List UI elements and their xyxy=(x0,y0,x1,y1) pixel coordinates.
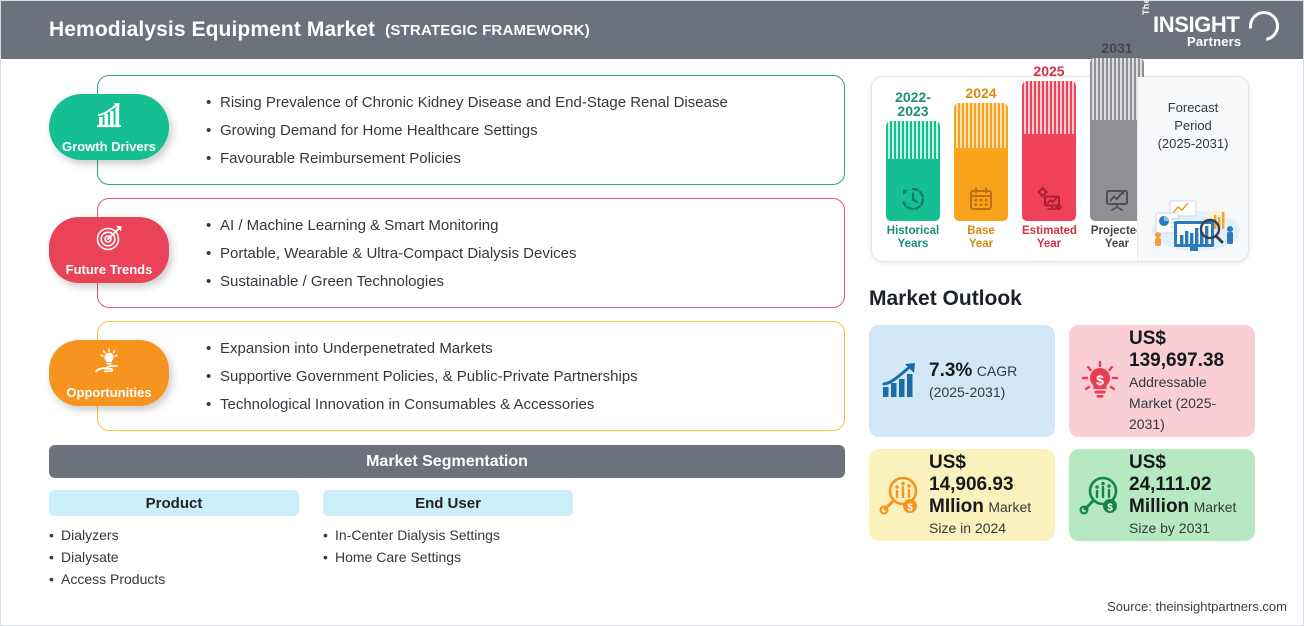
segment-name: Product xyxy=(146,495,203,512)
segmentation-column-product: Product Dialyzers Dialysate Access Produ… xyxy=(49,490,299,590)
bar-stripes xyxy=(954,103,1008,148)
bar-stripes xyxy=(886,121,940,159)
page-subtitle: (STRATEGIC FRAMEWORK) xyxy=(385,22,590,39)
calendar-icon xyxy=(968,186,994,212)
market-segmentation-header: Market Segmentation xyxy=(49,445,845,478)
lightbulb-dollar-icon: $ xyxy=(1079,360,1121,402)
segment-pill-product: Product xyxy=(49,490,299,516)
outlook-value: 7.3% xyxy=(929,360,972,381)
magnifier-bars-dollar-icon: $ xyxy=(879,474,921,516)
forecast-line-2: Period xyxy=(1138,117,1248,135)
list-item: Access Products xyxy=(49,568,299,590)
outlook-card-market-size-2024: $ US$ 14,906.93 MIlion Market Size in 20… xyxy=(869,449,1055,541)
list-item: Sustainable / Green Technologies xyxy=(206,268,830,296)
section-panel-future-trends: AI / Machine Learning & Smart Monitoring… xyxy=(97,198,845,308)
left-column: Rising Prevalence of Chronic Kidney Dise… xyxy=(1,59,861,626)
forecast-line-1: Forecast xyxy=(1138,99,1248,117)
logo-partners: Partners xyxy=(1187,34,1241,49)
list-item: Expansion into Underpenetrated Markets xyxy=(206,335,830,363)
market-segmentation-title: Market Segmentation xyxy=(366,453,528,471)
badge-label: Growth Drivers xyxy=(62,140,156,153)
target-dart-icon xyxy=(94,225,124,251)
bar-year-label: 2031 xyxy=(1090,41,1144,55)
forecast-period-text: Forecast Period (2025-2031) xyxy=(1138,99,1248,153)
list-item: AI / Machine Learning & Smart Monitoring xyxy=(206,212,830,240)
badge-opportunities[interactable]: Opportunities xyxy=(49,340,169,406)
source-attribution: Source: theinsightpartners.com xyxy=(1107,599,1287,614)
timeline-bar-projected: 2031 xyxy=(1090,41,1144,251)
gear-analytics-icon xyxy=(1036,186,1062,212)
logo-the: The xyxy=(1141,0,1151,15)
future-trends-bullets: AI / Machine Learning & Smart Monitoring… xyxy=(206,199,830,309)
badge-growth-drivers[interactable]: Growth Drivers xyxy=(49,94,169,160)
outlook-value: US$ 139,697.38 xyxy=(1129,328,1224,371)
bar-caption: Historical Years xyxy=(886,225,940,251)
list-item: Technological Innovation in Consumables … xyxy=(206,391,830,419)
timeline-bar-historical: 2022-2023 xyxy=(886,90,940,251)
right-column: 2022-2023 xyxy=(861,59,1303,626)
infographic-page: Hemodialysis Equipment Market (STRATEGIC… xyxy=(0,0,1304,626)
bar-year-label: 2025 xyxy=(1022,64,1076,78)
list-item: In-Center Dialysis Settings xyxy=(323,524,573,546)
bar-shape xyxy=(1022,81,1076,221)
outlook-card-market-size-2031: $ US$ 24,111.02 Million Market Size by 2… xyxy=(1069,449,1255,541)
bar-caption: Projected Year xyxy=(1090,225,1144,251)
bar-chart-arrow-icon xyxy=(94,102,124,128)
section-panel-opportunities: Expansion into Underpenetrated Markets S… xyxy=(97,321,845,431)
analytics-dashboard-illustration xyxy=(1144,191,1242,253)
svg-text:$: $ xyxy=(1107,503,1113,514)
market-timeline-chart: 2022-2023 xyxy=(871,76,1249,262)
list-item: Rising Prevalence of Chronic Kidney Dise… xyxy=(206,89,830,117)
segment-name: End User xyxy=(415,495,481,512)
outlook-card-addressable-market: $ US$ 139,697.38 Addressable Market (202… xyxy=(1069,325,1255,437)
bar-year-label: 2024 xyxy=(954,86,1008,100)
growth-drivers-bullets: Rising Prevalence of Chronic Kidney Dise… xyxy=(206,76,830,186)
timeline-bar-estimated: 2025 xyxy=(1022,64,1076,251)
timeline-bars: 2022-2023 xyxy=(872,77,1137,261)
bar-solid xyxy=(886,159,940,221)
segment-items-end-user: In-Center Dialysis Settings Home Care Se… xyxy=(323,524,573,568)
market-outlook-title: Market Outlook xyxy=(869,287,1022,311)
bar-year-label: 2022-2023 xyxy=(886,90,940,118)
opportunities-bullets: Expansion into Underpenetrated Markets S… xyxy=(206,322,830,432)
page-title: Hemodialysis Equipment Market xyxy=(49,18,375,42)
list-item: Home Care Settings xyxy=(323,546,573,568)
list-item: Dialysate xyxy=(49,546,299,568)
list-item: Supportive Government Policies, & Public… xyxy=(206,363,830,391)
magnifier-bars-dollar-icon: $ xyxy=(1079,474,1121,516)
svg-text:$: $ xyxy=(907,503,913,514)
insight-partners-logo: The INSIGHT Partners xyxy=(1141,9,1281,53)
badge-label: Opportunities xyxy=(66,386,151,399)
forecast-period-panel: Forecast Period (2025-2031) xyxy=(1137,77,1248,261)
bar-shape xyxy=(886,121,940,221)
bar-shape xyxy=(954,103,1008,221)
logo-arc-icon xyxy=(1243,5,1285,47)
bar-caption: Estimated Year xyxy=(1022,225,1076,251)
outlook-label: Addressable Market (2025-2031) xyxy=(1129,374,1216,432)
segmentation-column-end-user: End User In-Center Dialysis Settings Hom… xyxy=(323,490,573,568)
list-item: Favourable Reimbursement Policies xyxy=(206,145,830,173)
badge-future-trends[interactable]: Future Trends xyxy=(49,217,169,283)
section-panel-growth-drivers: Rising Prevalence of Chronic Kidney Dise… xyxy=(97,75,845,185)
list-item: Growing Demand for Home Healthcare Setti… xyxy=(206,117,830,145)
bar-solid xyxy=(1090,120,1144,221)
outlook-card-cagr: 7.3% CAGR (2025-2031) xyxy=(869,325,1055,437)
bar-stripes xyxy=(1022,81,1076,134)
list-item: Dialyzers xyxy=(49,524,299,546)
forecast-line-3: (2025-2031) xyxy=(1138,135,1248,153)
timeline-bar-base: 2024 xyxy=(954,86,1008,251)
bar-stripes xyxy=(1090,58,1144,120)
growth-chart-icon xyxy=(879,360,921,402)
segment-items-product: Dialyzers Dialysate Access Products xyxy=(49,524,299,590)
segment-pill-end-user: End User xyxy=(323,490,573,516)
hand-lightbulb-icon xyxy=(94,348,124,374)
bar-solid xyxy=(954,148,1008,221)
bar-solid xyxy=(1022,134,1076,221)
badge-label: Future Trends xyxy=(66,263,153,276)
presentation-chart-icon xyxy=(1104,186,1130,212)
bar-caption: Base Year xyxy=(954,225,1008,251)
clock-history-icon xyxy=(900,186,926,212)
svg-text:$: $ xyxy=(1096,372,1104,388)
list-item: Portable, Wearable & Ultra-Compact Dialy… xyxy=(206,240,830,268)
bar-shape xyxy=(1090,58,1144,221)
